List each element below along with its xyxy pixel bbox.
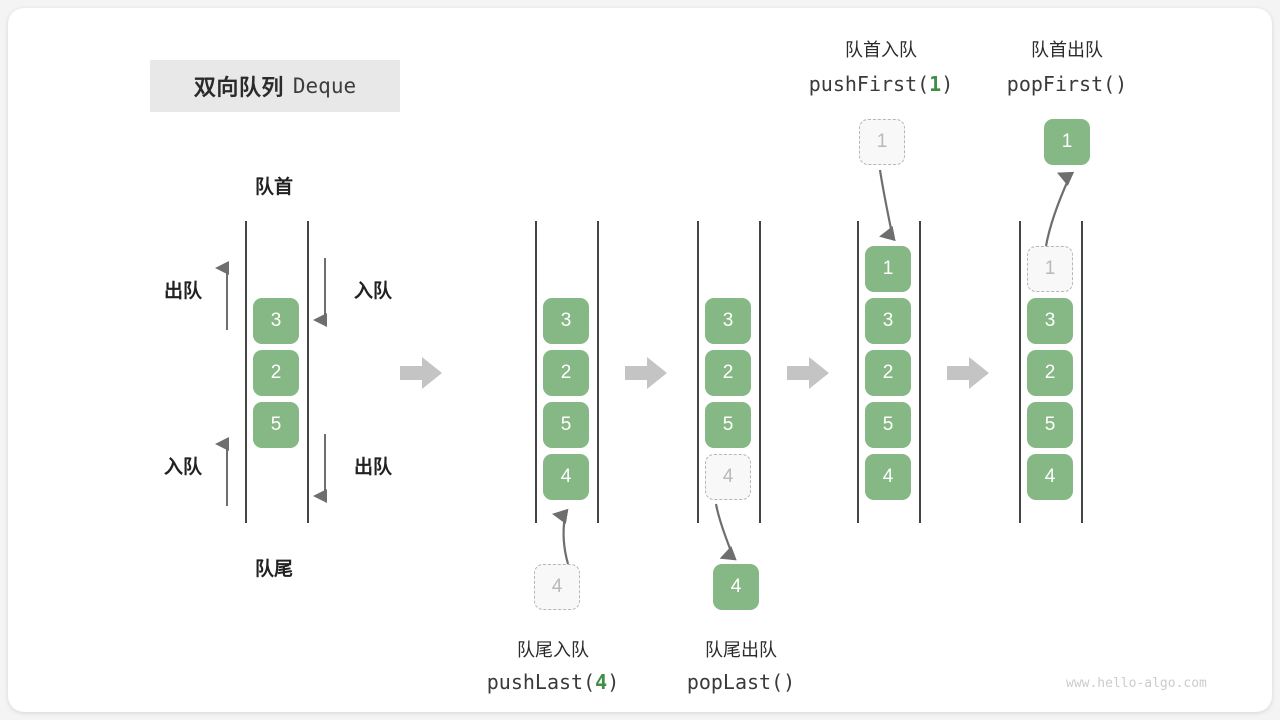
diagram-title-chip: 双向队列 Deque <box>150 60 400 112</box>
floating-cell-push-last-source: 4 <box>534 564 580 610</box>
pop-last-caption-cn: 队尾出队 <box>658 636 824 662</box>
push-last-caption-code: pushLast(4) <box>460 670 646 694</box>
cell-push-first-0: 1 <box>865 246 911 292</box>
cell-push-last-3: 4 <box>543 454 589 500</box>
pop-first-flow-arrow-icon <box>1038 166 1084 248</box>
pop-last-flow-arrow-icon <box>708 504 748 566</box>
floating-cell-pop-last-result: 4 <box>713 564 759 610</box>
cell-initial-0: 3 <box>253 298 299 344</box>
cell-pop-first-4: 4 <box>1027 454 1073 500</box>
watermark: www.hello-algo.com <box>1066 676 1207 691</box>
push-first-caption-cn: 队首入队 <box>798 36 964 62</box>
pop-first-fn-prefix: popFirst( <box>1007 72 1115 96</box>
panel-push-first-rail-left <box>857 221 859 523</box>
push-last-fn-prefix: pushLast( <box>487 670 595 694</box>
push-last-flow-arrow-icon <box>548 504 588 566</box>
side-label-left-bottom: 入队 <box>152 452 214 479</box>
cell-push-first-4: 4 <box>865 454 911 500</box>
pop-first-caption-cn: 队首出队 <box>984 36 1150 62</box>
cell-push-first-3: 5 <box>865 402 911 448</box>
cell-pop-first-3: 5 <box>1027 402 1073 448</box>
push-last-fn-suffix: ) <box>607 670 619 694</box>
cell-push-last-0: 3 <box>543 298 589 344</box>
panel-initial-rail-left <box>245 221 247 523</box>
cell-pop-last-1: 2 <box>705 350 751 396</box>
side-label-right-top: 入队 <box>342 276 404 303</box>
enqueue-head-arrow-icon <box>316 258 334 330</box>
cell-pop-last-3-ghost: 4 <box>705 454 751 500</box>
cell-pop-first-0-ghost: 1 <box>1027 246 1073 292</box>
push-first-flow-arrow-icon <box>866 170 906 246</box>
diagram-card: 双向队列 Deque 队首 队尾 3 2 5 出队 入队 <box>8 8 1272 712</box>
side-label-right-bottom: 出队 <box>342 452 404 479</box>
pop-last-caption-code: popLast() <box>653 670 829 694</box>
diagram-root: 双向队列 Deque 队首 队尾 3 2 5 出队 入队 <box>0 0 1280 720</box>
cell-initial-2: 5 <box>253 402 299 448</box>
push-last-fn-arg: 4 <box>595 670 607 694</box>
push-first-caption-code: pushFirst(1) <box>786 72 976 96</box>
side-label-left-top: 出队 <box>152 276 214 303</box>
panel-pop-first-rail-right <box>1081 221 1083 523</box>
pop-first-fn-suffix: ) <box>1115 72 1127 96</box>
dequeue-head-arrow-icon <box>218 258 236 330</box>
head-label: 队首 <box>224 172 324 199</box>
transition-arrow-2-icon <box>625 356 667 390</box>
cell-pop-first-2: 2 <box>1027 350 1073 396</box>
panel-pop-last-rail-left <box>697 221 699 523</box>
panel-initial-rail-right <box>307 221 309 523</box>
pop-first-caption-code: popFirst() <box>977 72 1157 96</box>
pop-last-fn-suffix: ) <box>783 670 795 694</box>
panel-pop-last-rail-right <box>759 221 761 523</box>
panel-pop-first-rail-left <box>1019 221 1021 523</box>
cell-pop-last-2: 5 <box>705 402 751 448</box>
transition-arrow-1-icon <box>400 356 442 390</box>
push-first-fn-prefix: pushFirst( <box>809 72 929 96</box>
enqueue-tail-arrow-icon <box>218 434 236 506</box>
cell-push-first-1: 3 <box>865 298 911 344</box>
cell-push-first-2: 2 <box>865 350 911 396</box>
pop-last-fn-prefix: popLast( <box>687 670 783 694</box>
tail-label: 队尾 <box>224 554 324 581</box>
panel-push-last-rail-left <box>535 221 537 523</box>
push-first-fn-suffix: ) <box>941 72 953 96</box>
panel-push-first-rail-right <box>919 221 921 523</box>
diagram-title-cn: 双向队列 <box>194 70 284 102</box>
push-last-caption-cn: 队尾入队 <box>470 636 636 662</box>
cell-push-last-2: 5 <box>543 402 589 448</box>
cell-pop-last-0: 3 <box>705 298 751 344</box>
floating-cell-push-first-source: 1 <box>859 119 905 165</box>
dequeue-tail-arrow-icon <box>316 434 334 506</box>
cell-push-last-1: 2 <box>543 350 589 396</box>
panel-push-last-rail-right <box>597 221 599 523</box>
transition-arrow-4-icon <box>947 356 989 390</box>
push-first-fn-arg: 1 <box>929 72 941 96</box>
diagram-title-en: Deque <box>293 74 356 98</box>
cell-initial-1: 2 <box>253 350 299 396</box>
transition-arrow-3-icon <box>787 356 829 390</box>
floating-cell-pop-first-result: 1 <box>1044 119 1090 165</box>
cell-pop-first-1: 3 <box>1027 298 1073 344</box>
